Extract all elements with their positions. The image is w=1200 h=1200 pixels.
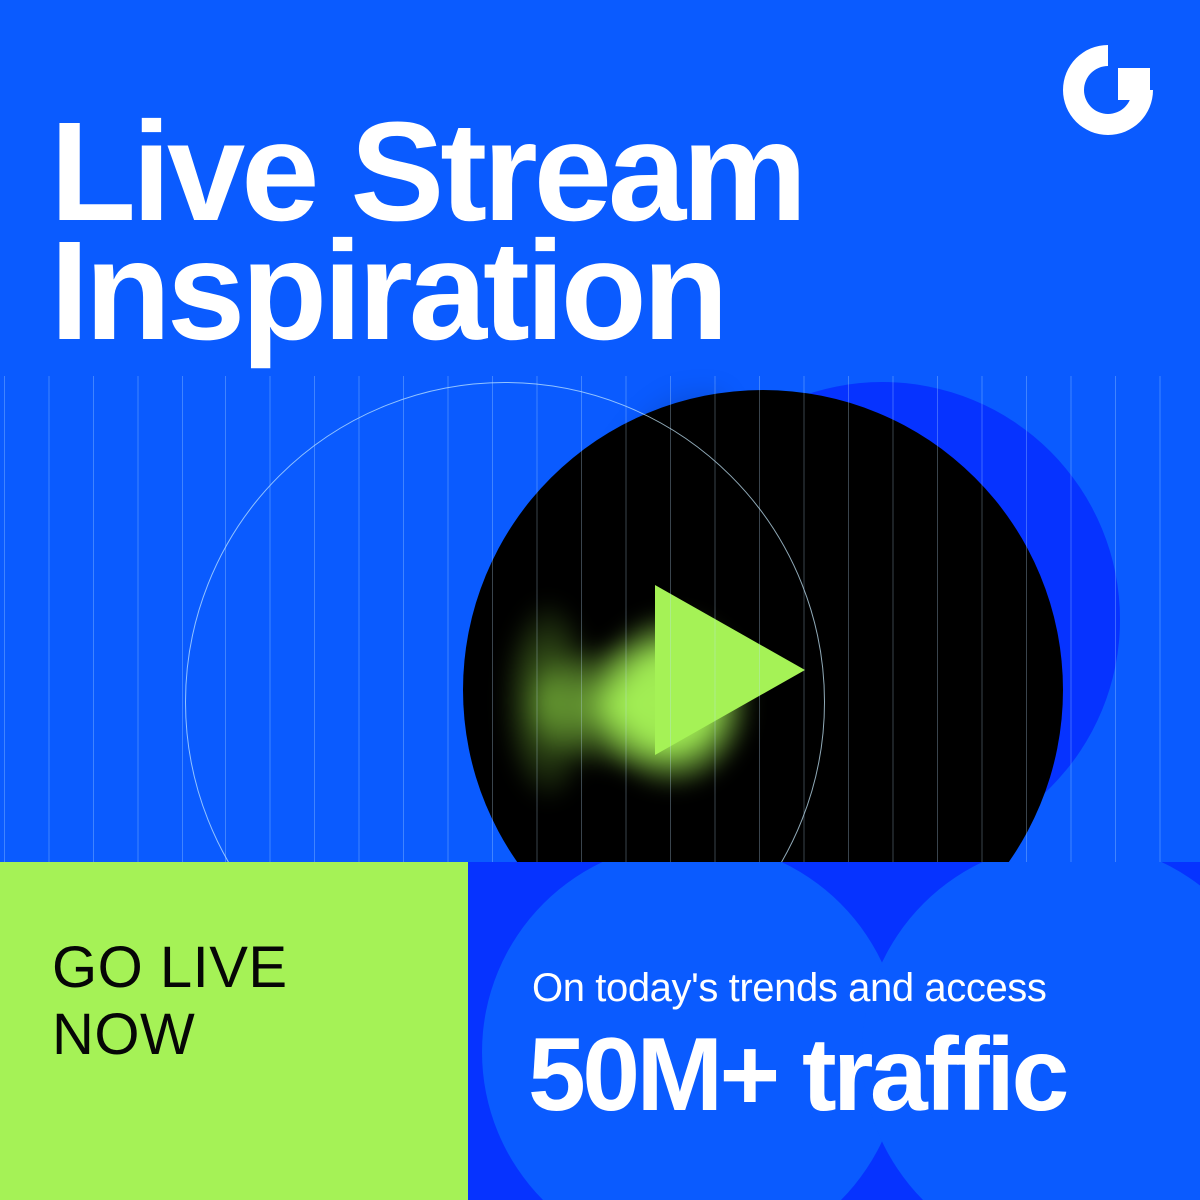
hero-section: Live Stream Inspiration xyxy=(0,0,1200,862)
bottom-band: GO LIVE NOW On today's trends and access… xyxy=(0,862,1200,1200)
stat-panel: On today's trends and access 50M+ traffi… xyxy=(468,862,1200,1200)
g-mark-logo[interactable] xyxy=(1056,38,1160,142)
stat-subline: On today's trends and access xyxy=(532,966,1047,1011)
poster-canvas: Live Stream Inspiration GO LIVE NOW On t… xyxy=(0,0,1200,1200)
cta-label: GO LIVE NOW xyxy=(52,934,288,1069)
page-title: Live Stream Inspiration xyxy=(50,112,803,350)
vertical-stripe-overlay xyxy=(0,376,1200,862)
stat-value: 50M+ traffic xyxy=(528,1016,1066,1135)
cta-panel[interactable]: GO LIVE NOW xyxy=(0,862,468,1200)
